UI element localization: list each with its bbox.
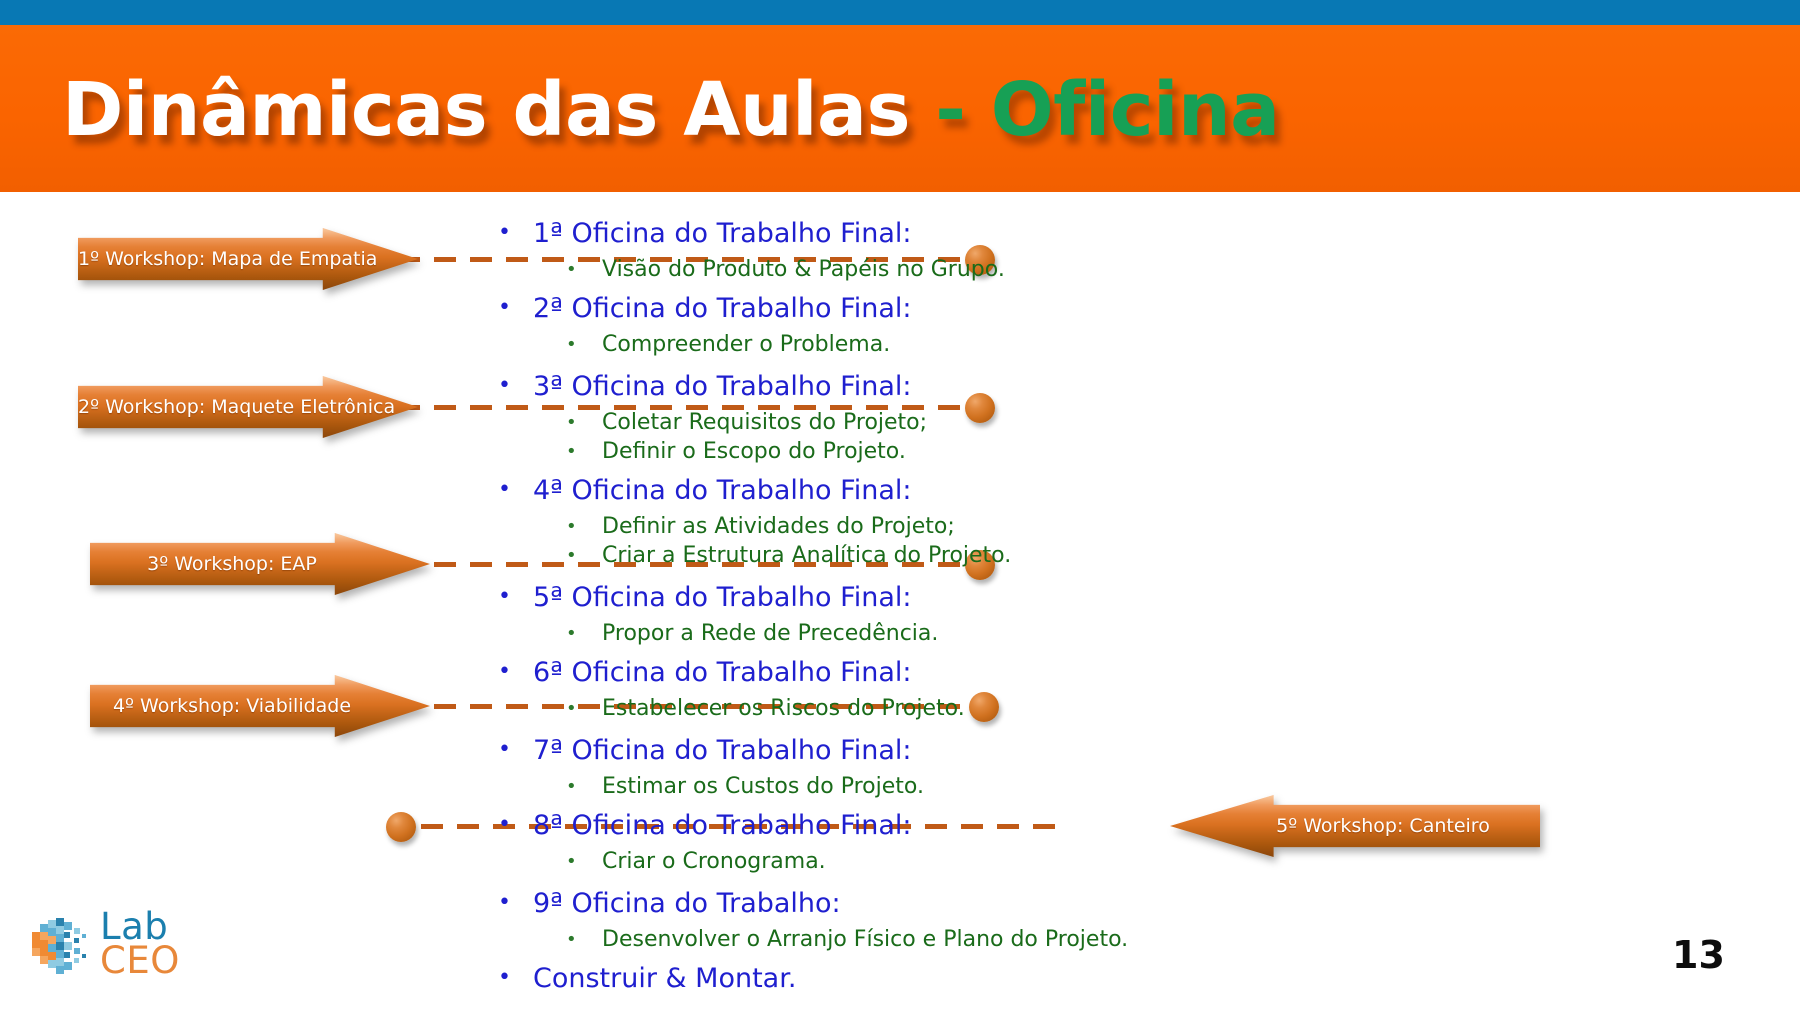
list-item: • Compreender o Problema. bbox=[498, 334, 1258, 356]
connector-endpoint-5 bbox=[386, 812, 416, 842]
bullet-icon: • bbox=[498, 479, 511, 501]
slide-content-area: 1º Workshop: Mapa de Empatia 2º Workshop… bbox=[0, 192, 1800, 1012]
list-item-label: 5ª Oficina do Trabalho Final: bbox=[533, 584, 911, 611]
bullet-icon: • bbox=[498, 739, 511, 761]
list-item-label: Criar a Estrutura Analítica do Projeto. bbox=[602, 545, 1011, 567]
list-item-label: Criar o Cronograma. bbox=[602, 851, 826, 873]
list-item-label: 4ª Oficina do Trabalho Final: bbox=[533, 477, 911, 504]
list-item-label: Coletar Requisitos do Projeto; bbox=[602, 412, 927, 434]
top-accent-bar bbox=[0, 0, 1800, 25]
bullet-icon: • bbox=[566, 778, 577, 796]
labceo-globe-icon bbox=[24, 912, 94, 982]
arrow-bevel bbox=[78, 376, 418, 438]
list-item-label: Compreender o Problema. bbox=[602, 334, 890, 356]
arrow-bevel bbox=[78, 228, 418, 290]
workshop-arrow-4[interactable]: 4º Workshop: Viabilidade bbox=[90, 675, 430, 737]
list-item-label: 7ª Oficina do Trabalho Final: bbox=[533, 737, 911, 764]
list-item: • Criar a Estrutura Analítica do Projeto… bbox=[498, 545, 1258, 567]
bullet-icon: • bbox=[566, 261, 577, 279]
list-item: • 7ª Oficina do Trabalho Final: bbox=[498, 737, 1258, 764]
bullet-icon: • bbox=[498, 892, 511, 914]
bullet-icon: • bbox=[566, 547, 577, 565]
list-item-label: Definir as Atividades do Projeto; bbox=[602, 516, 955, 538]
bullet-icon: • bbox=[566, 414, 577, 432]
list-item: • 6ª Oficina do Trabalho Final: bbox=[498, 659, 1258, 686]
bullet-icon: • bbox=[498, 586, 511, 608]
bullet-icon: • bbox=[498, 375, 511, 397]
bullet-icon: • bbox=[498, 222, 511, 244]
list-item-label: Desenvolver o Arranjo Físico e Plano do … bbox=[602, 929, 1128, 951]
list-item-label: 2ª Oficina do Trabalho Final: bbox=[533, 295, 911, 322]
list-item: • 9ª Oficina do Trabalho: bbox=[498, 890, 1258, 917]
arrow-bevel bbox=[90, 675, 430, 737]
workshop-arrow-3[interactable]: 3º Workshop: EAP bbox=[90, 533, 430, 595]
page-title: Dinâmicas das Aulas - Oficina bbox=[62, 73, 1280, 147]
bullet-icon: • bbox=[498, 661, 511, 683]
list-item: • Construir & Montar. bbox=[498, 965, 1258, 992]
bullet-icon: • bbox=[498, 814, 511, 836]
list-item: • 4ª Oficina do Trabalho Final: bbox=[498, 477, 1258, 504]
page-title-separator: - bbox=[910, 67, 991, 153]
bullet-icon: • bbox=[566, 336, 577, 354]
bullet-icon: • bbox=[566, 443, 577, 461]
slide-header-band: Dinâmicas das Aulas - Oficina bbox=[0, 25, 1800, 192]
list-item: • Definir as Atividades do Projeto; bbox=[498, 516, 1258, 538]
page-title-main: Dinâmicas das Aulas bbox=[62, 67, 910, 153]
page-number: 13 bbox=[1672, 933, 1725, 977]
list-item: • 8ª Oficina do Trabalho Final: bbox=[498, 812, 1258, 839]
list-item: • Estimar os Custos do Projeto. bbox=[498, 776, 1258, 798]
bullet-icon: • bbox=[566, 625, 577, 643]
workshop-arrow-1[interactable]: 1º Workshop: Mapa de Empatia bbox=[78, 228, 418, 290]
list-item-label: Propor a Rede de Precedência. bbox=[602, 623, 938, 645]
list-item: • Coletar Requisitos do Projeto; bbox=[498, 412, 1258, 434]
bullet-icon: • bbox=[566, 700, 577, 718]
list-item: • 3ª Oficina do Trabalho Final: bbox=[498, 373, 1258, 400]
list-item: • Criar o Cronograma. bbox=[498, 851, 1258, 873]
list-item-label: 8ª Oficina do Trabalho Final: bbox=[533, 812, 911, 839]
workshop-arrow-2[interactable]: 2º Workshop: Maquete Eletrônica bbox=[78, 376, 418, 438]
list-item-label: Visão do Produto & Papéis no Grupo. bbox=[602, 259, 1005, 281]
list-item: • Estabelecer os Riscos do Projeto. bbox=[498, 698, 1258, 720]
list-item: • Definir o Escopo do Projeto. bbox=[498, 441, 1258, 463]
list-item: • 2ª Oficina do Trabalho Final: bbox=[498, 295, 1258, 322]
list-item-label: 6ª Oficina do Trabalho Final: bbox=[533, 659, 911, 686]
list-item-label: 3ª Oficina do Trabalho Final: bbox=[533, 373, 911, 400]
list-item-label: Estabelecer os Riscos do Projeto. bbox=[602, 698, 965, 720]
labceo-logo: Lab CEO bbox=[24, 908, 199, 986]
bullet-icon: • bbox=[566, 518, 577, 536]
outline-list: • 1ª Oficina do Trabalho Final: • Visão … bbox=[498, 220, 1258, 992]
logo-ceo-text: CEO bbox=[100, 944, 180, 978]
list-item-label: Definir o Escopo do Projeto. bbox=[602, 441, 906, 463]
list-item: • Visão do Produto & Papéis no Grupo. bbox=[498, 259, 1258, 281]
list-item: • 1ª Oficina do Trabalho Final: bbox=[498, 220, 1258, 247]
bullet-icon: • bbox=[566, 931, 577, 949]
list-item: • Propor a Rede de Precedência. bbox=[498, 623, 1258, 645]
arrow-bevel bbox=[90, 533, 430, 595]
list-item-label: 1ª Oficina do Trabalho Final: bbox=[533, 220, 911, 247]
bullet-icon: • bbox=[498, 297, 511, 319]
list-item: • 5ª Oficina do Trabalho Final: bbox=[498, 584, 1258, 611]
bullet-icon: • bbox=[566, 853, 577, 871]
list-item-label: Estimar os Custos do Projeto. bbox=[602, 776, 924, 798]
list-item: • Desenvolver o Arranjo Físico e Plano d… bbox=[498, 929, 1258, 951]
bullet-icon: • bbox=[498, 967, 511, 989]
labceo-wordmark: Lab CEO bbox=[100, 910, 180, 978]
list-item-label: Construir & Montar. bbox=[533, 965, 796, 992]
list-item-label: 9ª Oficina do Trabalho: bbox=[533, 890, 841, 917]
page-title-accent: Oficina bbox=[991, 67, 1280, 153]
